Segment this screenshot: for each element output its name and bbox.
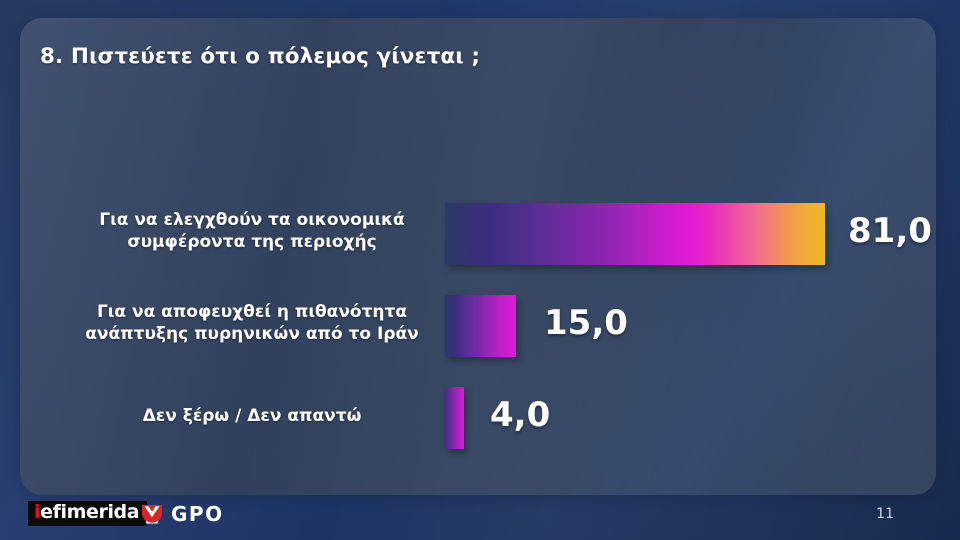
bar-row: Για να αποφευχθεί η πιθανότητα ανάπτυξης… — [20, 295, 936, 357]
bar-category-label-line1: Για να ελεγχθούν τα οικονομικά — [72, 209, 432, 231]
bar-track — [445, 203, 825, 265]
bar-category-label: Δεν ξέρω / Δεν απαντώ — [72, 405, 432, 427]
bar-category-label-line1: Δεν ξέρω / Δεν απαντώ — [72, 405, 432, 427]
bar-category-label-line2: συμφέροντα της περιοχής — [72, 231, 432, 253]
bar-row: Δεν ξέρω / Δεν απαντώ 4,0 — [20, 387, 936, 449]
bar-fill-economic-interests — [445, 203, 825, 265]
bar-value-label: 4,0 — [490, 395, 550, 435]
bar-category-label: Για να αποφευχθεί η πιθανότητα ανάπτυξης… — [72, 301, 432, 345]
bar-row: Για να ελεγχθούν τα οικονομικά συμφέροντ… — [20, 203, 936, 265]
page-title: 8. Πιστεύετε ότι ο πόλεμος γίνεται ; — [40, 44, 480, 69]
bar-category-label-line2: ανάπτυξης πυρηνικών από το Ιράν — [72, 323, 432, 345]
bar-value-label: 81,0 — [848, 211, 932, 251]
bar-category-label: Για να ελεγχθούν τα οικονομικά συμφέροντ… — [72, 209, 432, 253]
slide-content-panel: 8. Πιστεύετε ότι ο πόλεμος γίνεται ; Για… — [20, 18, 936, 495]
gpo-wordmark: GPO — [171, 502, 224, 526]
iefimerida-logo[interactable]: iefimerida — [28, 501, 147, 526]
bar-track — [445, 295, 516, 357]
bar-value-label: 15,0 — [544, 303, 628, 343]
iefimerida-logo-text: efimerida — [40, 501, 139, 523]
bar-category-label-line1: Για να αποφευχθεί η πιθανότητα — [72, 301, 432, 323]
bar-track — [445, 387, 464, 449]
page-number: 11 — [876, 506, 894, 522]
chevron-shield-icon — [140, 503, 164, 525]
bar-fill-avoid-nuclear-iran — [445, 295, 516, 357]
bar-chart: Για να ελεγχθούν τα οικονομικά συμφέροντ… — [20, 168, 936, 468]
gpo-logo[interactable]: GPO — [140, 502, 224, 526]
slide-footer: iefimerida GPO 11 — [0, 495, 960, 540]
bar-fill-dont-know — [445, 387, 464, 449]
presentation-slide: 8. Πιστεύετε ότι ο πόλεμος γίνεται ; Για… — [0, 0, 960, 540]
